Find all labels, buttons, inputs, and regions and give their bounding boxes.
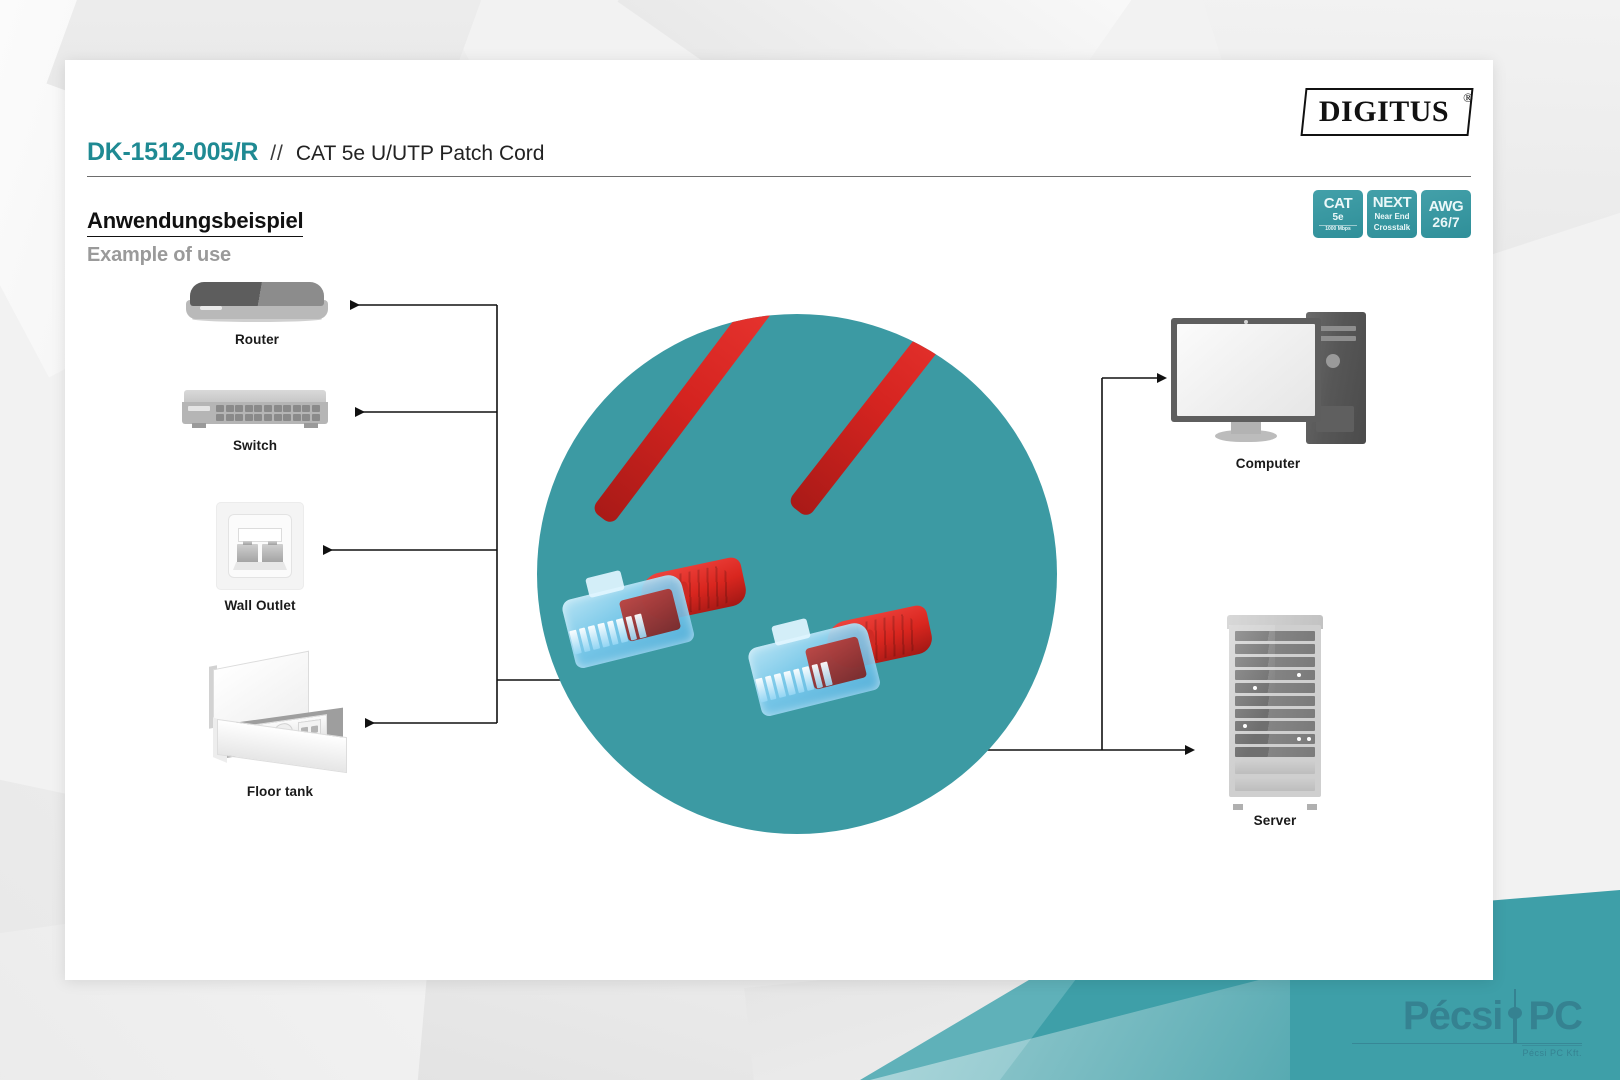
logo-wordmark: DIGITUS [1303, 88, 1471, 136]
title-separator: // [270, 142, 284, 166]
rj45-connector-right [743, 608, 933, 718]
watermark-text-1: Pécsi [1403, 996, 1503, 1036]
cat-badge: CAT 5e 1000 Mbps [1313, 190, 1363, 238]
wall-outlet-label: Wall Outlet [195, 598, 325, 613]
section-heading-english: Example of use [87, 244, 303, 267]
diagram-node-wall-outlet[interactable]: Wall Outlet [195, 502, 325, 613]
header-row: DK-1512-005/R // CAT 5e U/UTP Patch Cord [87, 138, 1471, 177]
section-heading-german: Anwendungsbeispiel [87, 208, 303, 237]
next-badge-line1: Near End [1374, 213, 1409, 222]
awg-badge: AWG 26/7 [1421, 190, 1471, 238]
server-label: Server [1195, 813, 1355, 828]
router-icon [186, 282, 328, 324]
next-badge-main: NEXT [1373, 195, 1411, 210]
next-badge: NEXT Near End Crosstalk [1367, 190, 1417, 238]
cat-badge-sub: 5e [1332, 213, 1343, 223]
computer-label: Computer [1163, 456, 1373, 471]
next-badge-line2: Crosstalk [1374, 224, 1410, 233]
wall-outlet-icon [216, 502, 304, 590]
content-card: DIGITUS ® DK-1512-005/R // CAT 5e U/UTP … [65, 60, 1493, 980]
diagram-node-server[interactable]: Server [1195, 615, 1355, 828]
product-sku: DK-1512-005/R [87, 138, 258, 167]
watermark-row: Pécsi PC [1403, 989, 1582, 1043]
computer-icon [1171, 308, 1366, 448]
digitus-logo: DIGITUS ® [1303, 88, 1471, 136]
section-headings: Anwendungsbeispiel Example of use [87, 208, 303, 267]
diagram-node-computer[interactable]: Computer [1163, 308, 1373, 471]
patch-cord-cable-right [787, 314, 992, 518]
awg-badge-main: AWG [1429, 199, 1464, 214]
switch-label: Switch [175, 438, 335, 453]
diagram-node-router[interactable]: Router [177, 282, 337, 347]
router-label: Router [177, 332, 337, 347]
rj45-connector-left [557, 560, 747, 670]
awg-badge-value: 26/7 [1432, 215, 1459, 229]
logo-registered-icon: ® [1463, 90, 1473, 106]
product-title-line: DK-1512-005/R // CAT 5e U/UTP Patch Cord [87, 138, 1471, 177]
cat-badge-main: CAT [1324, 196, 1353, 211]
certification-badges: CAT 5e 1000 Mbps NEXT Near End Crosstalk… [1313, 190, 1471, 238]
diagram-node-floor-tank[interactable]: Floor tank [185, 660, 375, 799]
cat-badge-speed: 1000 Mbps [1319, 225, 1358, 232]
diagram-node-switch[interactable]: Switch [175, 390, 335, 453]
product-name: CAT 5e U/UTP Patch Cord [296, 142, 545, 166]
floor-tank-label: Floor tank [185, 784, 375, 799]
tv-tower-icon [1504, 989, 1526, 1043]
datasheet-page: DIGITUS ® DK-1512-005/R // CAT 5e U/UTP … [0, 0, 1620, 1080]
floor-tank-icon [205, 660, 355, 776]
patch-cord-cable-left [591, 314, 810, 525]
pecsipc-watermark: Pécsi PC Pécsi PC Kft. [1403, 989, 1582, 1058]
watermark-subtitle: Pécsi PC Kft. [1522, 1045, 1582, 1058]
switch-icon [182, 390, 328, 430]
product-hero-image [537, 314, 1057, 834]
watermark-text-2: PC [1528, 996, 1582, 1036]
server-icon [1227, 615, 1323, 805]
